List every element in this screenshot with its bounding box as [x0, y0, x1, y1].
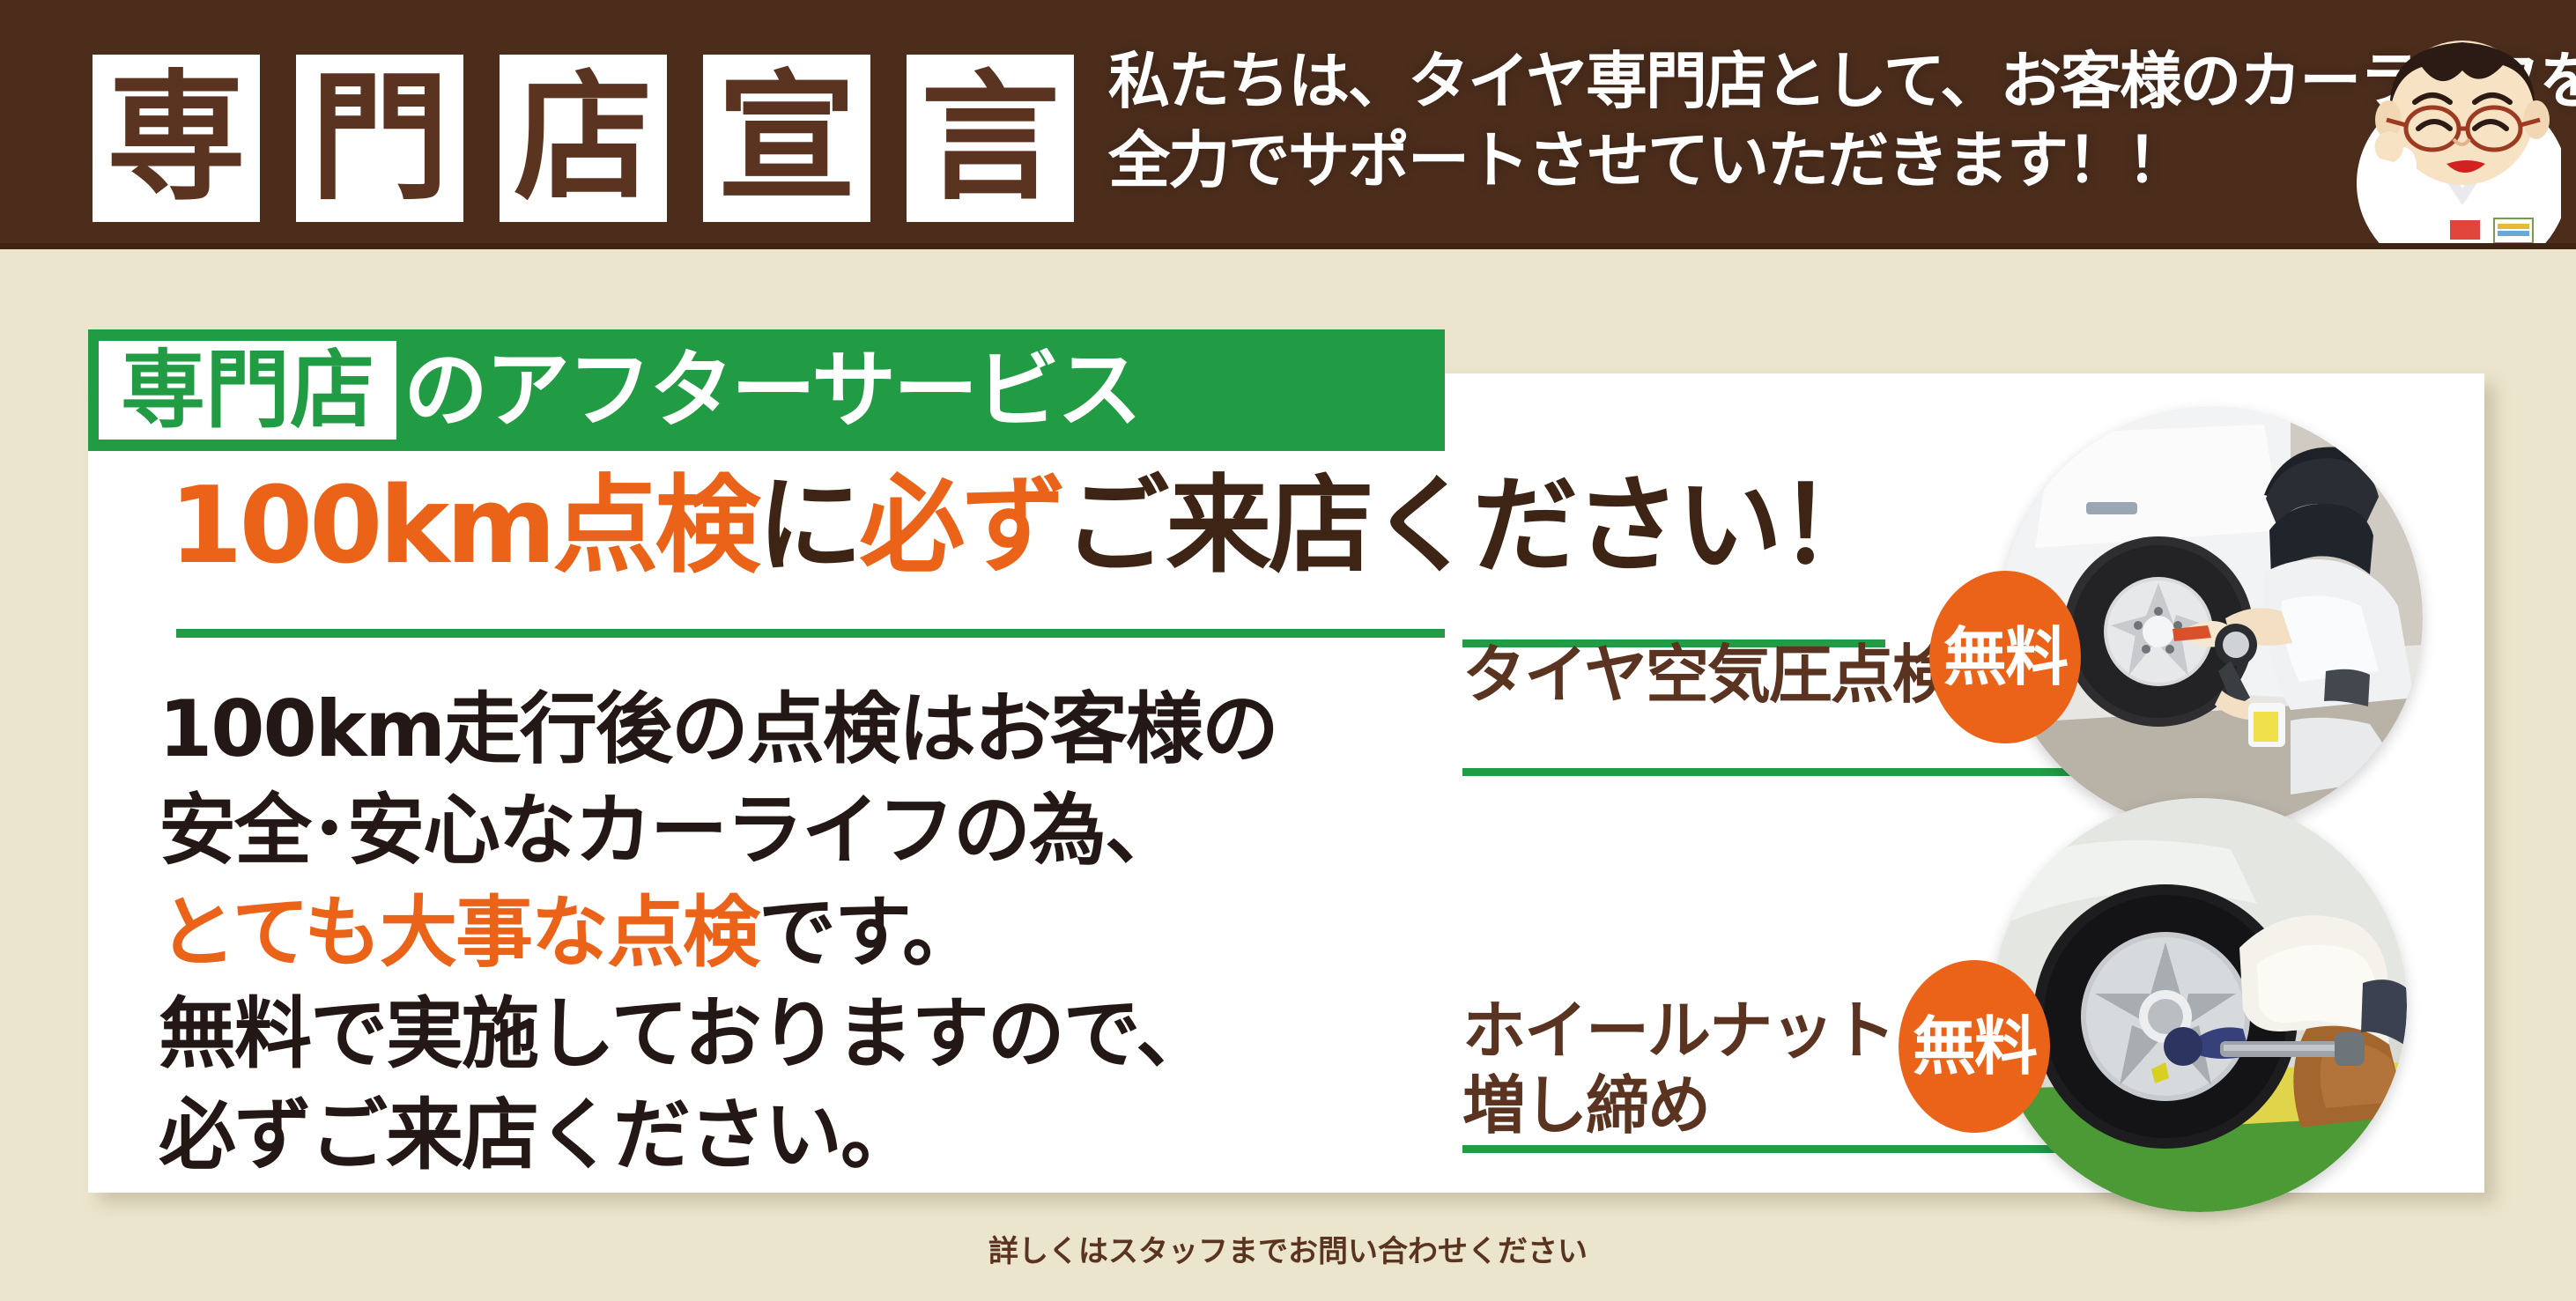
- body-line-1: 100km走行後の点検はお客様の: [159, 678, 1418, 780]
- body-line-3-highlight: とても大事な点検: [159, 887, 759, 978]
- service-1-free-badge: 無料: [1929, 571, 2081, 743]
- header-tagline: 私たちは、タイヤ専門店として、お客様のカーライフを 全力でサポートさせていただき…: [1108, 42, 2359, 200]
- headline-part-2: に: [757, 465, 859, 588]
- body-text-block: 100km走行後の点検はお客様の 安全･安心なカーライフの為、 とても大事な点検…: [159, 678, 1418, 1186]
- section-band-chip: 専門店: [99, 341, 396, 440]
- header-kanji-box-2: 門: [296, 55, 463, 222]
- page-header: 専 門 店 宣 言 私たちは、タイヤ専門店として、お客様のカーライフを 全力でサ…: [0, 0, 2576, 249]
- header-bottom-rule: [0, 243, 2576, 249]
- body-line-5: 必ずご来店ください。: [159, 1084, 1418, 1186]
- header-kanji-box-3: 店: [500, 55, 667, 222]
- section-band-text: のアフターサービス: [403, 348, 1139, 432]
- body-line-3-suffix: です。: [759, 887, 978, 978]
- header-kanji-box-5: 言: [907, 55, 1074, 222]
- header-kanji-box-1: 専: [93, 55, 260, 222]
- header-kanji-box-4: 宣: [703, 55, 870, 222]
- headline-part-4: ご来店ください！: [1063, 465, 1881, 588]
- headline-part-3: 必ず: [859, 465, 1063, 588]
- header-tagline-line1: 私たちは、タイヤ専門店として、お客様のカーライフを: [1108, 42, 2359, 122]
- header-title-kanji-boxes: 専 門 店 宣 言: [93, 55, 1074, 222]
- headline-part-1: 100km点検: [169, 465, 757, 588]
- body-line-3: とても大事な点検です。: [159, 882, 1418, 983]
- header-tagline-line2: 全力でサポートさせていただきます！！: [1108, 122, 2359, 201]
- service-2-free-badge: 無料: [1899, 960, 2050, 1133]
- wheel-nut-tightening-photo: [1993, 798, 2407, 1212]
- staff-mascot-icon: [2330, 16, 2561, 249]
- main-headline: 100km点検に必ずご来店ください！: [169, 474, 1881, 580]
- body-line-2: 安全･安心なカーライフの為、: [159, 780, 1418, 881]
- section-band: 専門店 のアフターサービス: [88, 329, 1445, 451]
- body-line-4: 無料で実施しておりますので、: [159, 983, 1418, 1084]
- footer-note: 詳しくはスタッフまでお問い合わせください: [0, 1227, 2576, 1270]
- headline-divider-rule: [176, 629, 1445, 638]
